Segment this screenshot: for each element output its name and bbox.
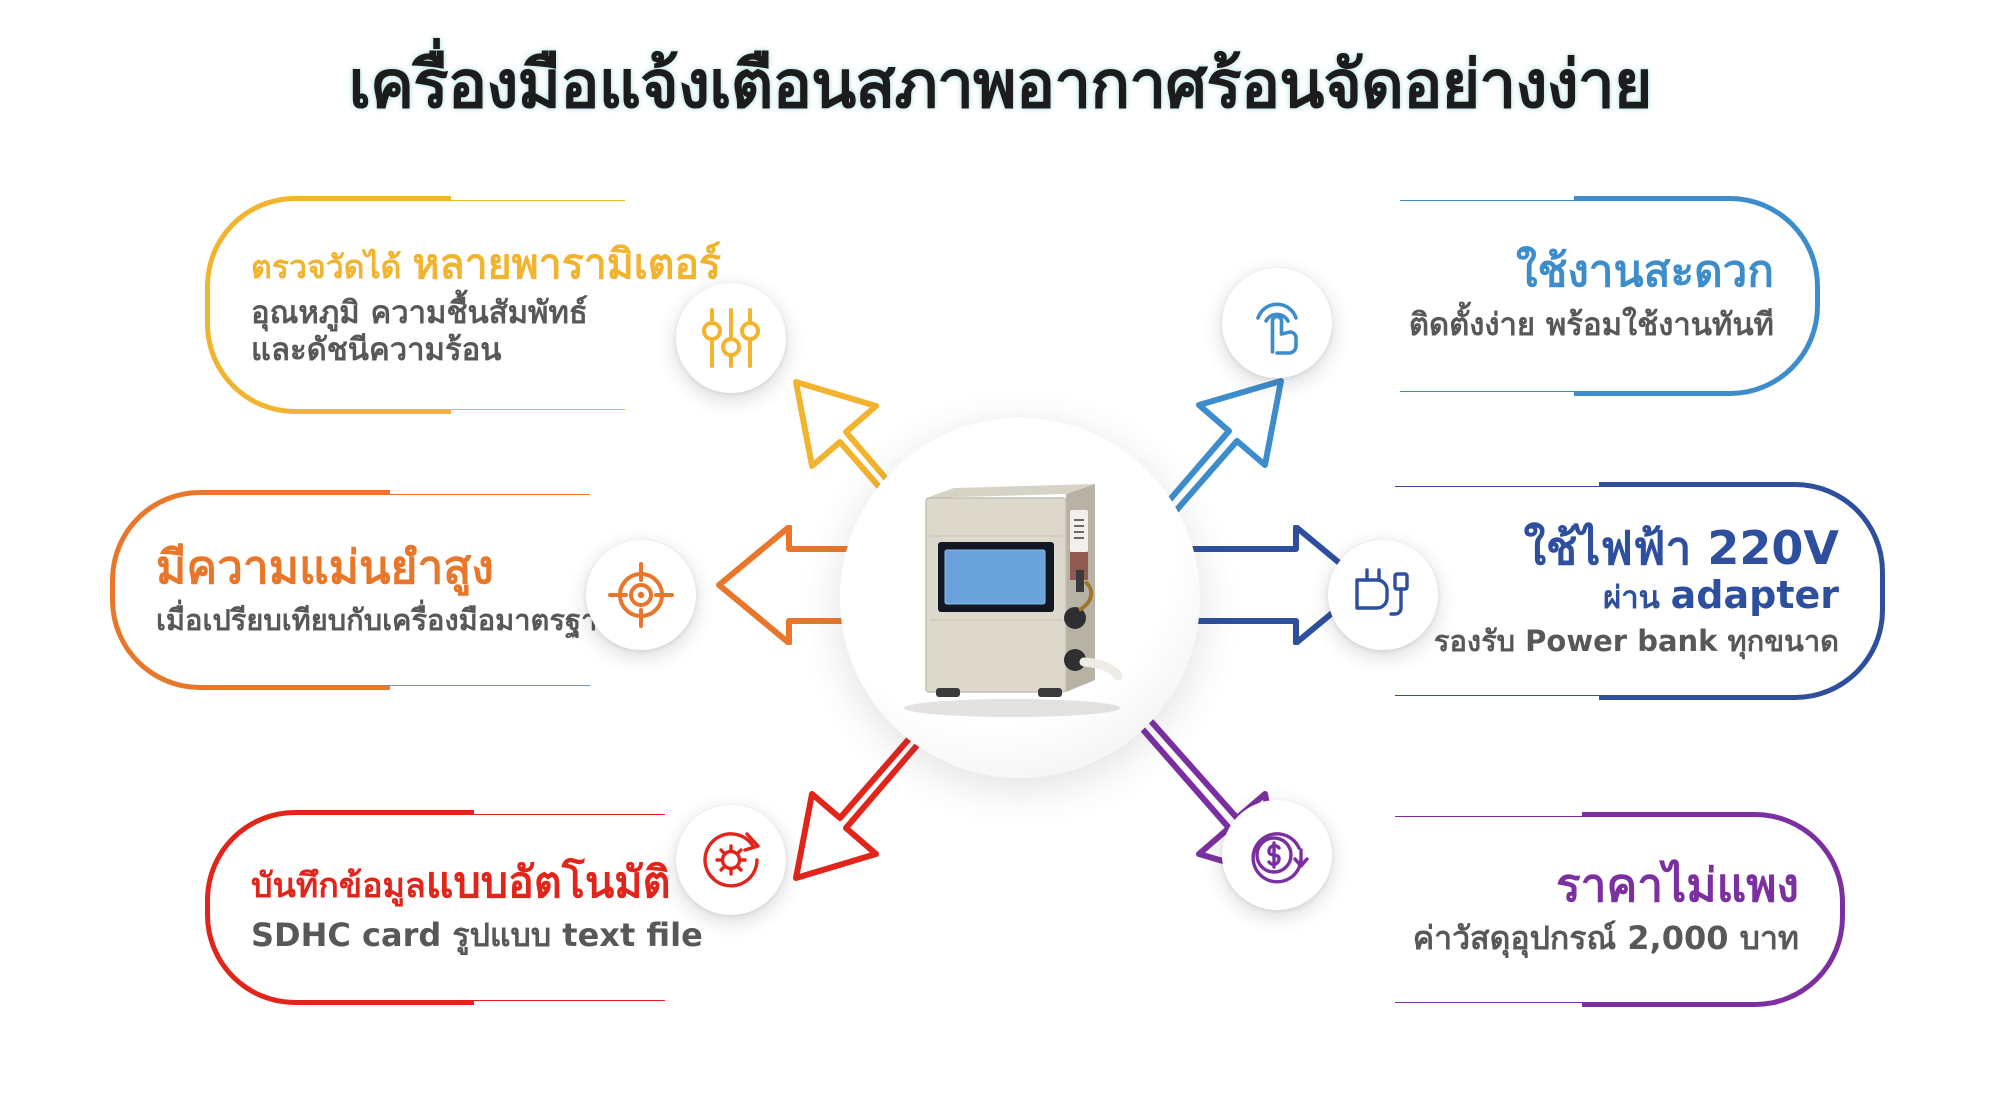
headline-second-lead: ผ่าน [1603,580,1671,616]
power-plug-icon-bubble[interactable] [1328,540,1438,650]
sub-line-1: ติดตั้งง่าย พร้อมใช้งานทันที [1409,307,1774,344]
headline-main: หลายพารามิเตอร์ [412,240,721,288]
headline-lead: ตรวจวัดได้ [251,248,412,286]
headline-main: ใช้งานสะดวก [1516,246,1774,297]
heat-alert-device [880,470,1150,720]
headline-second-main: adapter [1671,573,1839,617]
sub-line-1: ค่าวัสดุอุปกรณ์ 2,000 บาท [1413,920,1799,958]
infographic-canvas: เครื่องมือแจ้งเตือนสภาพอากาศร้อนจัดอย่าง… [0,0,2000,1111]
headline-main: แบบอัตโนมัติ [426,858,671,908]
tap-touch-icon-bubble[interactable] [1222,268,1332,378]
dollar-cost-down-icon [1244,822,1310,888]
sub-line-1: รองรับ Power bank ทุกขนาด [1434,624,1839,658]
feature-card-multi-parameter[interactable]: ตรวจวัดได้ หลายพารามิเตอร์ อุณหภูมิ ความ… [205,196,625,414]
headline-main: มีความแม่นยำสูง [156,540,494,594]
sub-line-2: และดัชนีความร้อน [251,332,501,369]
headline-main: ราคาไม่แพง [1556,858,1799,912]
feature-card-auto-logging[interactable]: บันทึกข้อมูลแบบอัตโนมัติ SDHC card รูปแบ… [205,810,665,1005]
sliders-icon-bubble[interactable] [676,283,786,393]
auto-gear-refresh-icon-bubble[interactable] [676,805,786,915]
dollar-cost-down-icon-bubble[interactable] [1222,800,1332,910]
sub-line-1: เมื่อเปรียบเทียบกับเครื่องมือมาตรฐาน [156,603,617,637]
sliders-icon [702,306,760,370]
crosshair-target-icon [608,562,674,628]
crosshair-target-icon-bubble[interactable] [586,540,696,650]
tap-touch-icon [1246,290,1308,356]
headline-main: ใช้ไฟฟ้า 220V [1524,521,1839,575]
sub-line-1: SDHC card รูปแบบ text file [251,917,703,955]
feature-card-easy-to-use[interactable]: ใช้งานสะดวก ติดตั้งง่าย พร้อมใช้งานทันที [1400,196,1820,396]
power-plug-icon [1351,564,1415,626]
feature-card-high-accuracy[interactable]: มีความแม่นยำสูง เมื่อเปรียบเทียบกับเครื่… [110,490,590,690]
headline-lead: บันทึกข้อมูล [251,866,426,906]
feature-card-low-price[interactable]: ราคาไม่แพง ค่าวัสดุอุปกรณ์ 2,000 บาท [1395,812,1845,1007]
feature-card-power-220v[interactable]: ใช้ไฟฟ้า 220V ผ่าน adapter รองรับ Power … [1395,482,1885,700]
page-title: เครื่องมือแจ้งเตือนสภาพอากาศร้อนจัดอย่าง… [0,32,2000,137]
auto-gear-refresh-icon [697,826,765,894]
sub-line-1: อุณหภูมิ ความชื้นสัมพัทธ์ [251,295,588,332]
